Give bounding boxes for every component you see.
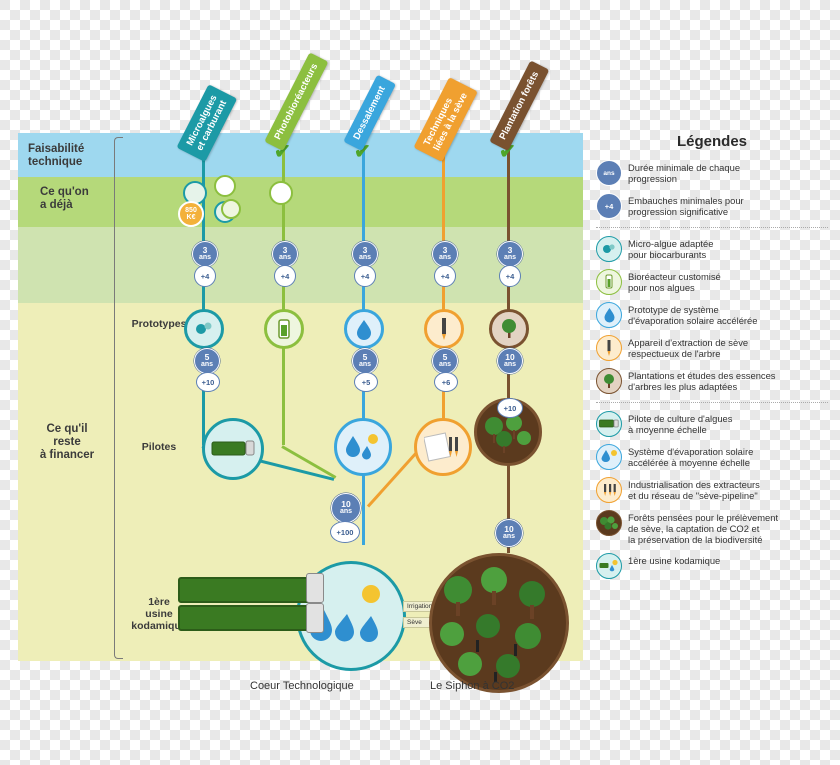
badge-brevet-label: 850 K€ bbox=[180, 207, 202, 221]
legend-text-micro-algue: Micro-algue adaptée pour biocarburants bbox=[628, 236, 713, 260]
evaporation-icon bbox=[596, 302, 622, 328]
ans-icon-label: ans bbox=[603, 170, 614, 177]
chip-years: 10 bbox=[505, 354, 514, 361]
band-label-technique-line2: technique bbox=[28, 156, 84, 169]
legend-text-arbre: Plantations et études des essences d'arb… bbox=[628, 368, 776, 392]
chip-years: 3 bbox=[283, 247, 288, 254]
chip-duree-microalgues-prototype: 3 ans bbox=[192, 241, 218, 267]
legend-item-industrialisation: Industrialisation des extracteurs et du … bbox=[596, 477, 828, 503]
legend-text-evaporation-pilote: Système d'évaporation solaire accélérée … bbox=[628, 444, 753, 468]
caption-coeur-technologique: Coeur Technologique bbox=[250, 680, 354, 692]
micro-algue-icon bbox=[596, 236, 622, 262]
chip-duree-coeur-usine: 10 ans bbox=[331, 493, 361, 523]
legend-text-forets: Forêts pensées pour le prélèvement de sè… bbox=[628, 510, 778, 546]
legend-text-line1: Plantations et études des essences bbox=[628, 370, 776, 381]
pilote-algues-icon bbox=[596, 411, 622, 437]
roadmap-board: Faisabilité technique Ce qu'on a déjà Ce… bbox=[18, 133, 583, 661]
chip-duree-microalgues-pilote: 5 ans bbox=[194, 348, 220, 374]
chip-embauches-microalgues: +4 bbox=[194, 265, 216, 287]
micro-algue-icon bbox=[193, 318, 215, 340]
embauches-icon-label: +4 bbox=[605, 202, 614, 211]
chip-embauches-coeur: +100 bbox=[330, 521, 360, 543]
legend-text-line2: pour nos algues bbox=[628, 282, 721, 293]
ribbon-plantation-forets-line1: Plantation forêts bbox=[497, 70, 541, 142]
band-label-deja-line1: Ce qu'on bbox=[40, 186, 89, 199]
chip-embauches-photobio: +4 bbox=[274, 265, 296, 287]
legend-title: Légendes bbox=[596, 133, 828, 150]
band-label-deja-line2: a déjà bbox=[40, 199, 89, 212]
usine-kodamique-icon bbox=[596, 553, 622, 579]
legend-text-extracteur-seve: Appareil d'extraction de sève respectueu… bbox=[628, 335, 748, 359]
forets-icon bbox=[596, 510, 622, 536]
node-pilote-extracteurs[interactable] bbox=[414, 418, 472, 476]
node-prototype-forets[interactable] bbox=[489, 309, 529, 349]
evaporation-pilote-icon bbox=[343, 432, 383, 462]
chip-unit: ans bbox=[359, 361, 371, 368]
chip-embauches-forets: +4 bbox=[499, 265, 521, 287]
node-pilote-evaporation[interactable] bbox=[334, 418, 392, 476]
band-transition bbox=[18, 227, 583, 303]
embauches-icon: +4 bbox=[596, 193, 622, 219]
legend-text-pilote-algues: Pilote de culture d'algues à moyenne éch… bbox=[628, 411, 732, 435]
chip-embauches-dessalement: +4 bbox=[354, 265, 376, 287]
chip-unit: ans bbox=[279, 254, 291, 261]
legend-item-bioreacteur: Bioréacteur customisé pour nos algues bbox=[596, 269, 828, 295]
band-label-reste-line1: Ce qu'il bbox=[28, 423, 106, 436]
evaporation-icon bbox=[355, 318, 373, 340]
legend-item-arbre: Plantations et études des essences d'arb… bbox=[596, 368, 828, 394]
arbre-icon bbox=[497, 317, 521, 341]
legend-item-evaporation-pilote: Système d'évaporation solaire accélérée … bbox=[596, 444, 828, 470]
chip-unit: ans bbox=[359, 254, 371, 261]
chip-unit: ans bbox=[439, 361, 451, 368]
legend-text-line1: Durée minimale de chaque bbox=[628, 162, 740, 173]
legend-text-line1: Embauches minimales pour bbox=[628, 195, 744, 206]
legend-item-duree: ans Durée minimale de chaque progression bbox=[596, 160, 828, 186]
legend-text-line2: à moyenne échelle bbox=[628, 424, 732, 435]
chip-duree-forets-usine: 10 ans bbox=[495, 519, 523, 547]
legend-item-evaporation: Prototype de système d'évaporation solai… bbox=[596, 302, 828, 328]
extracteur-seve-icon bbox=[596, 335, 622, 361]
caption-siphon-co2: Le Siphon à CO2 bbox=[430, 680, 514, 692]
arbre-icon bbox=[596, 368, 622, 394]
chip-embauches-dessalement-pilote: +5 bbox=[354, 372, 378, 392]
chip-years: 3 bbox=[203, 247, 208, 254]
chip-duree-seve-pilote: 5 ans bbox=[432, 348, 458, 374]
band-label-deja: Ce qu'on a déjà bbox=[40, 186, 89, 212]
legend-text-line1: Bioréacteur customisé bbox=[628, 271, 721, 282]
chip-embauches-seve-pilote: +6 bbox=[434, 372, 458, 392]
extracteur-seve-icon bbox=[437, 317, 451, 341]
chip-duree-seve-prototype: 3 ans bbox=[432, 241, 458, 267]
chip-years: 3 bbox=[508, 247, 513, 254]
tank-algues-2 bbox=[178, 605, 312, 631]
ribbon-photobioreacteurs-line1: Photobioréacteurs bbox=[272, 62, 320, 142]
band-ce-quon-a-deja bbox=[18, 177, 583, 227]
node-prototype-photobioreacteur[interactable] bbox=[264, 309, 304, 349]
chip-duree-dessalement-prototype: 3 ans bbox=[352, 241, 378, 267]
legend-text-line2: pour biocarburants bbox=[628, 249, 713, 260]
scope-bracket bbox=[114, 137, 123, 659]
row-label-pilotes: Pilotes bbox=[122, 441, 196, 453]
chip-unit: ans bbox=[503, 533, 515, 540]
tank-module-2 bbox=[306, 603, 324, 633]
legend-text-line1: Micro-algue adaptée bbox=[628, 238, 713, 249]
chip-unit: ans bbox=[199, 254, 211, 261]
legend-text-usine-kodamique: 1ère usine kodamique bbox=[628, 553, 720, 566]
legend-text-line2: respectueux de l'arbre bbox=[628, 348, 748, 359]
legend-text-industrialisation: Industrialisation des extracteurs et du … bbox=[628, 477, 760, 501]
chip-years: 3 bbox=[363, 247, 368, 254]
legend-separator-2 bbox=[596, 402, 828, 403]
node-prototype-dessalement[interactable] bbox=[344, 309, 384, 349]
chip-years: 10 bbox=[504, 526, 513, 533]
legend-text-line1: Système d'évaporation solaire bbox=[628, 446, 753, 457]
pilote-algues-icon bbox=[211, 437, 255, 461]
band-label-reste-line3: à financer bbox=[28, 449, 106, 462]
legend-item-pilote-algues: Pilote de culture d'algues à moyenne éch… bbox=[596, 411, 828, 437]
chip-years: 10 bbox=[341, 501, 350, 508]
badge-bioreacteur bbox=[214, 175, 236, 197]
tank-module-1 bbox=[306, 573, 324, 603]
node-prototype-microalgues[interactable] bbox=[184, 309, 224, 349]
legend-text-duree: Durée minimale de chaque progression bbox=[628, 160, 740, 184]
chip-duree-dessalement-pilote: 5 ans bbox=[352, 348, 378, 374]
chip-years: 3 bbox=[443, 247, 448, 254]
legend-item-forets: Forêts pensées pour le prélèvement de sè… bbox=[596, 510, 828, 546]
chip-embauches-seve: +4 bbox=[434, 265, 456, 287]
legend-item-extracteur-seve: Appareil d'extraction de sève respectueu… bbox=[596, 335, 828, 361]
badge-brevet: 850 K€ bbox=[178, 201, 204, 227]
chip-embauches-microalgues-pilote: +10 bbox=[196, 372, 220, 392]
legend-text-evaporation: Prototype de système d'évaporation solai… bbox=[628, 302, 757, 326]
legend-text-line1: Pilote de culture d'algues bbox=[628, 413, 732, 424]
legend-text-line2: d'arbres les plus adaptées bbox=[628, 381, 776, 392]
legend-text-line2: de sève, la captation de CO2 et bbox=[628, 523, 778, 534]
legend-text-line2: d'évaporation solaire accélérée bbox=[628, 315, 757, 326]
legend-item-usine-kodamique: 1ère usine kodamique bbox=[596, 553, 828, 579]
chip-years: 5 bbox=[205, 354, 210, 361]
chip-embauches-forets-pilote: +10 bbox=[497, 398, 523, 418]
chip-unit: ans bbox=[439, 254, 451, 261]
legend-panel: Légendes ans Durée minimale de chaque pr… bbox=[596, 133, 828, 586]
connector-techniques-seve bbox=[442, 145, 445, 445]
forets-co2-icon bbox=[432, 556, 566, 690]
evaporation-pilote-icon bbox=[596, 444, 622, 470]
chip-unit: ans bbox=[201, 361, 213, 368]
legend-text-line1: Prototype de système bbox=[628, 304, 757, 315]
chip-unit: ans bbox=[504, 361, 516, 368]
legend-item-micro-algue: Micro-algue adaptée pour biocarburants bbox=[596, 236, 828, 262]
chip-duree-forets-prototype: 3 ans bbox=[497, 241, 523, 267]
chip-duree-photobio-prototype: 3 ans bbox=[272, 241, 298, 267]
band-label-technique-line1: Faisabilité bbox=[28, 143, 84, 156]
legend-separator-1 bbox=[596, 227, 828, 228]
tank-algues-1 bbox=[178, 577, 312, 603]
connector-plantation-forets bbox=[507, 145, 510, 435]
legend-item-embauches: +4 Embauches minimales pour progression … bbox=[596, 193, 828, 219]
chip-duree-forets-pilote: 10 ans bbox=[497, 348, 523, 374]
bioreacteur-icon bbox=[274, 318, 294, 340]
chip-unit: ans bbox=[504, 254, 516, 261]
band-label-reste: Ce qu'il reste à financer bbox=[28, 423, 106, 462]
legend-text-line2: progression significative bbox=[628, 206, 744, 217]
node-pilote-algues[interactable] bbox=[202, 418, 264, 480]
legend-text-line1: Appareil d'extraction de sève bbox=[628, 337, 748, 348]
bioreacteur-icon bbox=[596, 269, 622, 295]
industrialisation-icon bbox=[596, 477, 622, 503]
legend-text-line2: et du réseau de "sève-pipeline" bbox=[628, 490, 760, 501]
legend-text-line1: 1ère usine kodamique bbox=[628, 555, 720, 566]
chip-years: 5 bbox=[363, 354, 368, 361]
legend-text-embauches: Embauches minimales pour progression sig… bbox=[628, 193, 744, 217]
legend-text-line3: la préservation de la biodiversité bbox=[628, 534, 778, 545]
industrialisation-icon bbox=[424, 431, 462, 463]
band-label-reste-line2: reste bbox=[28, 436, 106, 449]
legend-text-line2: accélérée à moyenne échelle bbox=[628, 457, 753, 468]
chip-unit: ans bbox=[340, 508, 352, 515]
legend-text-line1: Industrialisation des extracteurs bbox=[628, 479, 760, 490]
badge-photobio bbox=[269, 181, 293, 205]
badge-photobio-2 bbox=[221, 199, 241, 219]
legend-text-line2: progression bbox=[628, 173, 740, 184]
node-foret-co2[interactable] bbox=[429, 553, 569, 693]
legend-text-bioreacteur: Bioréacteur customisé pour nos algues bbox=[628, 269, 721, 293]
legend-text-line1: Forêts pensées pour le prélèvement bbox=[628, 512, 778, 523]
node-prototype-seve[interactable] bbox=[424, 309, 464, 349]
band-label-technique: Faisabilité technique bbox=[28, 143, 84, 169]
chip-years: 5 bbox=[443, 354, 448, 361]
ans-icon: ans bbox=[596, 160, 622, 186]
